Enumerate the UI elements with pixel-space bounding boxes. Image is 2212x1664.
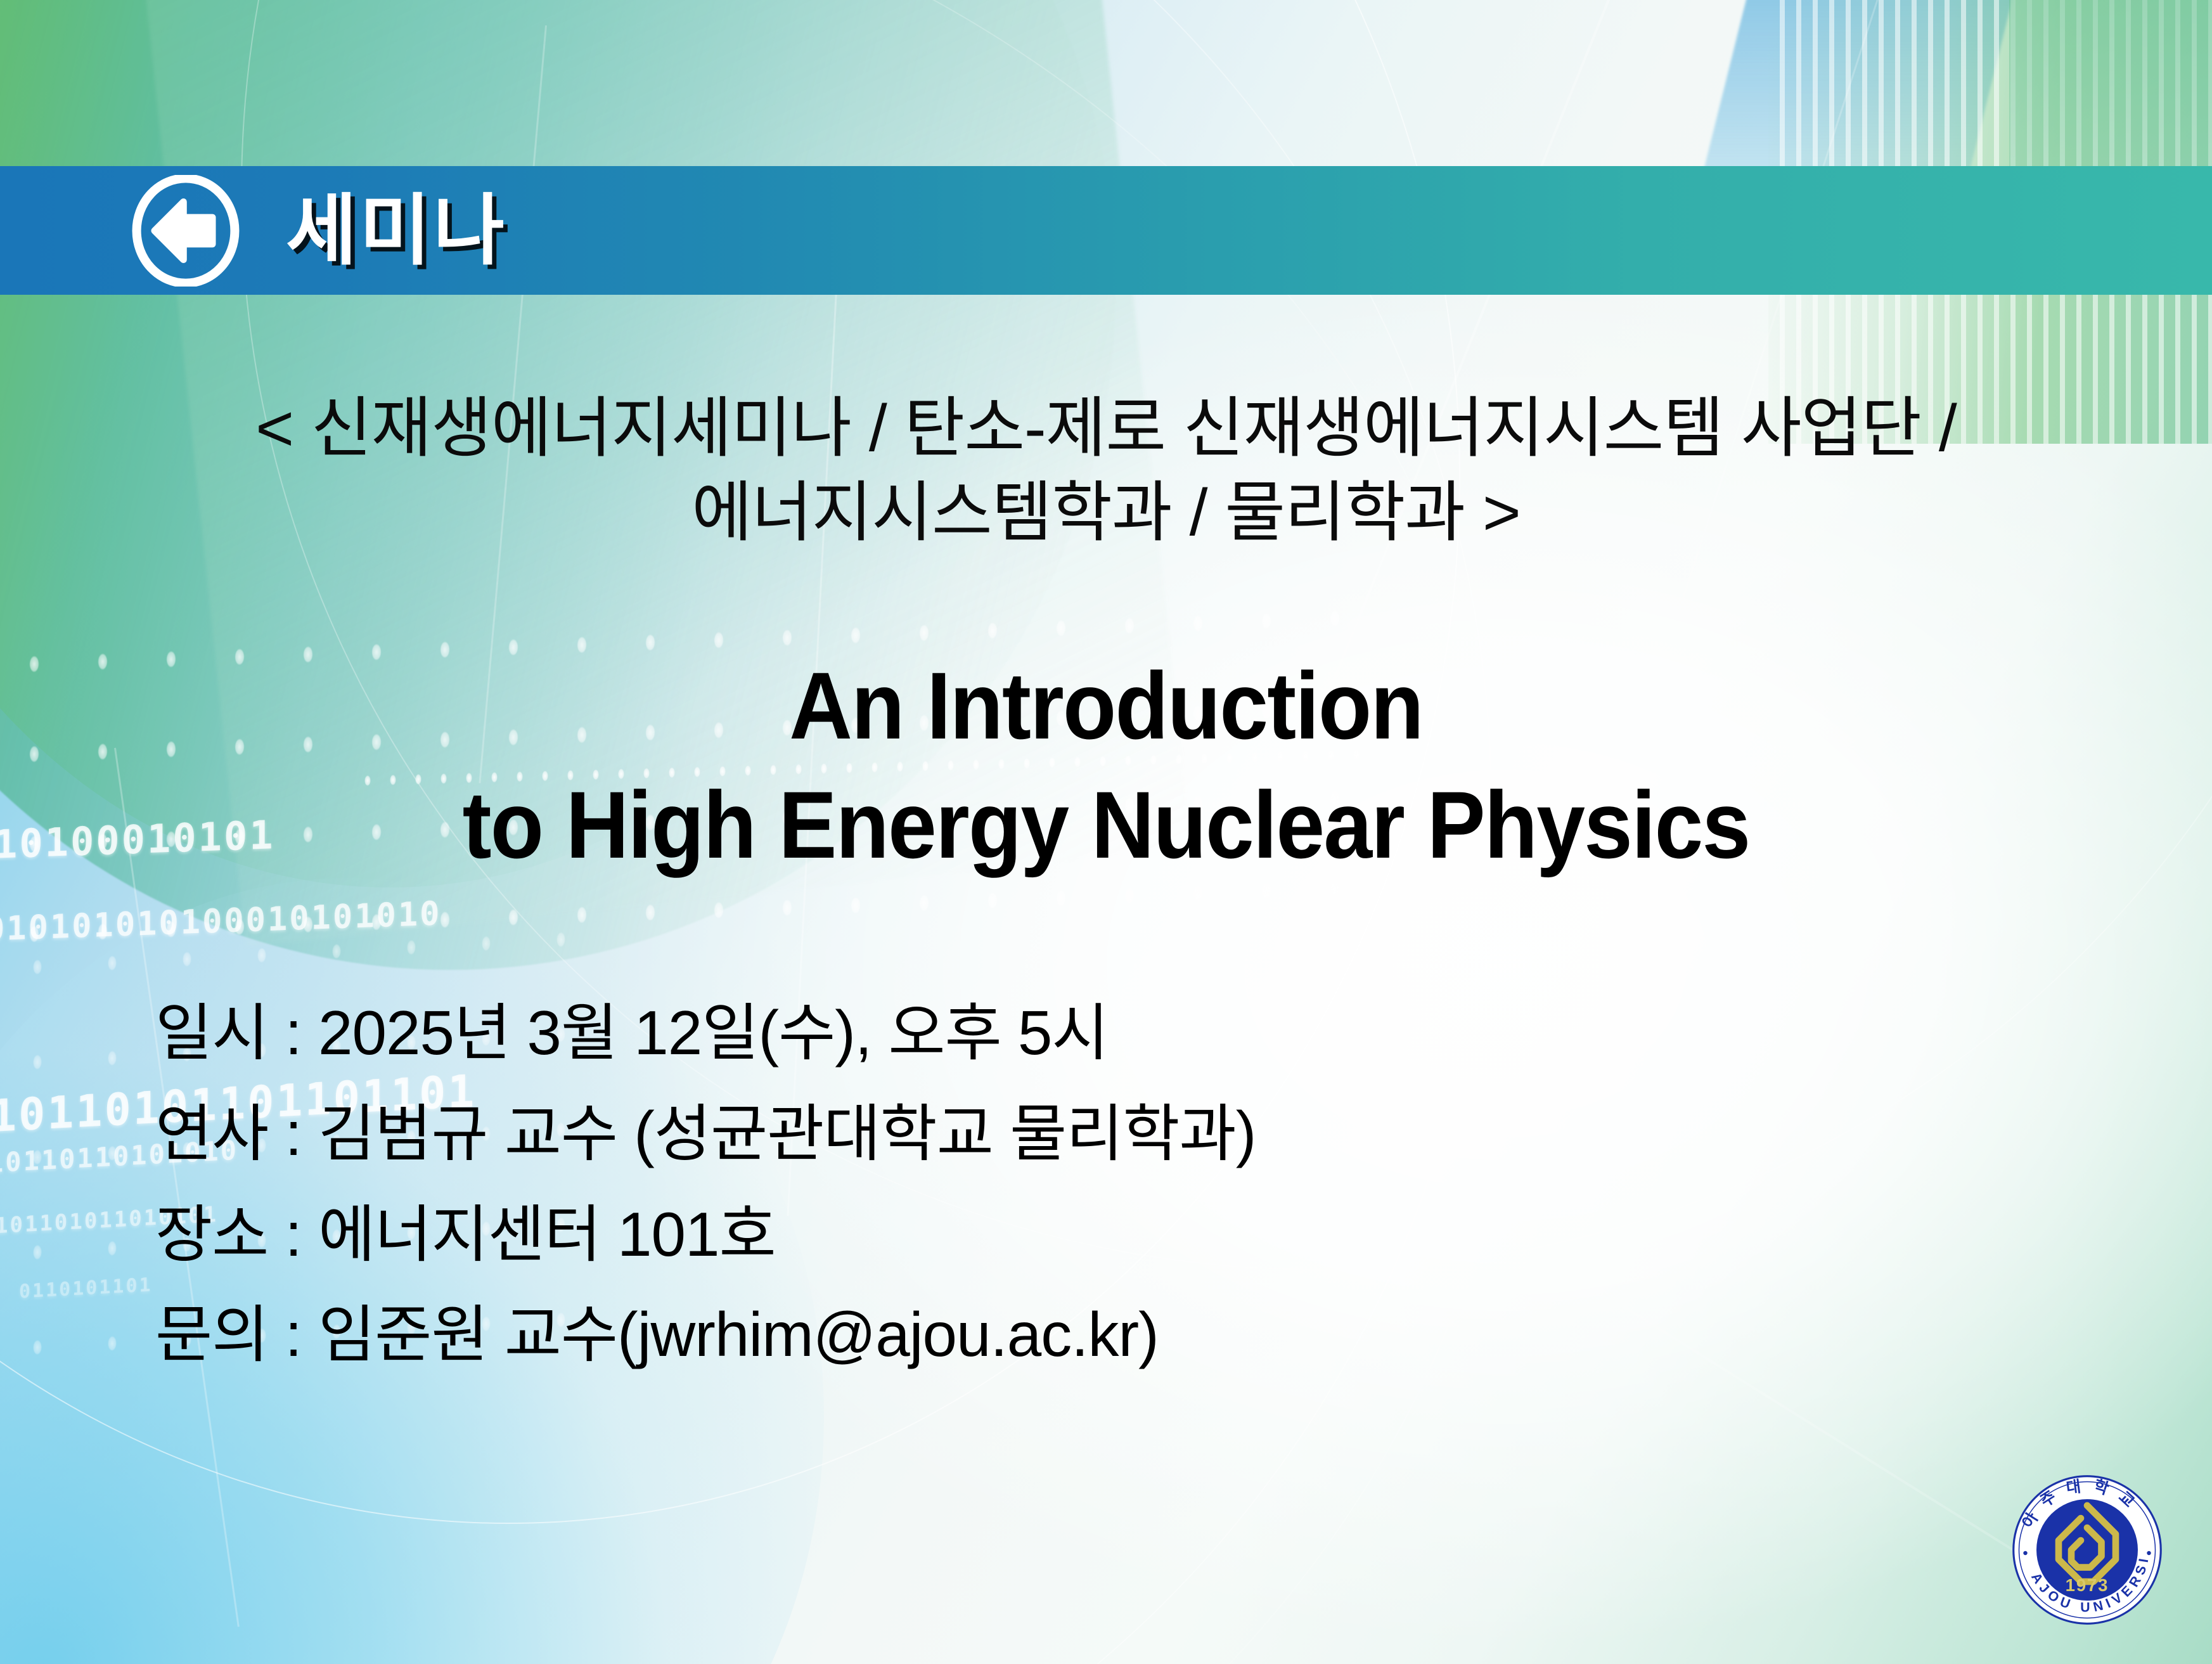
- ajou-university-logo: 1973 아주대학교 AJOU UNIVERSITY: [2008, 1471, 2166, 1629]
- header-bar: 세미나: [0, 166, 2212, 295]
- header-title: 세미나: [286, 192, 507, 269]
- detail-row-datetime: 일시 : 2025년 3월 12일(수), 오후 5시: [155, 983, 1256, 1083]
- logo-dot-right: [2147, 1551, 2151, 1556]
- poster-details: 일시 : 2025년 3월 12일(수), 오후 5시 연사 : 김범규 교수 …: [155, 983, 1256, 1385]
- seminar-poster: 10100010101 010101010100010101010 101101…: [0, 0, 2212, 1664]
- poster-main-title: An Introduction to High Energy Nuclear P…: [89, 647, 2124, 884]
- detail-row-contact: 문의 : 임준원 교수(jwrhim@ajou.ac.kr): [155, 1284, 1256, 1385]
- detail-row-speaker: 연사 : 김범규 교수 (성균관대학교 물리학과): [155, 1083, 1256, 1184]
- detail-row-location: 장소 : 에너지센터 101호: [155, 1184, 1256, 1285]
- poster-subtitle: < 신재생에너지세미나 / 탄소-제로 신재생에너지시스템 사업단 / 에너지시…: [114, 387, 2098, 555]
- poster-content: < 신재생에너지세미나 / 탄소-제로 신재생에너지시스템 사업단 / 에너지시…: [0, 295, 2212, 1664]
- logo-dot-left: [2023, 1551, 2028, 1556]
- logo-year: 1973: [2066, 1575, 2109, 1595]
- back-arrow-circle-icon[interactable]: [130, 175, 241, 287]
